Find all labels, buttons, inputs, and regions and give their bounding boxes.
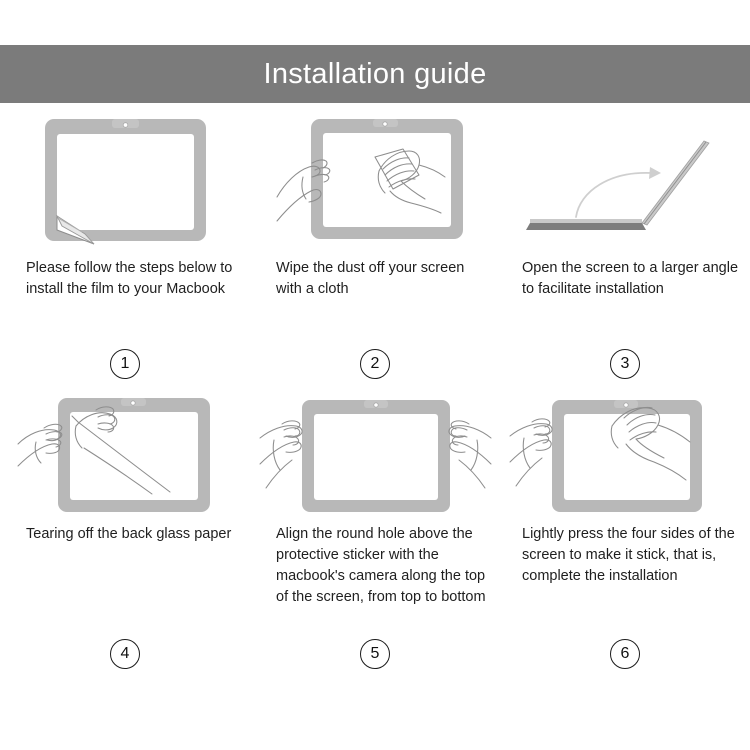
step-card-3: Open the screen to a larger angle to fac… [500, 103, 750, 384]
header-band: Installation guide [0, 45, 750, 103]
step-badge-row-5: 5 [250, 634, 500, 674]
step-illustration-5 [250, 384, 500, 524]
step-number-badge-4: 4 [110, 639, 140, 669]
step-card-2: Wipe the dust off your screen with a clo… [250, 103, 500, 384]
step-caption-1: Please follow the steps below to install… [0, 258, 250, 344]
step-number-badge-3: 3 [610, 349, 640, 379]
step-illustration-4 [0, 384, 250, 524]
installation-guide-page: Installation guide Please follow the ste… [0, 0, 750, 750]
step-card-5: Align the round hole above the protectiv… [250, 384, 500, 674]
step-badge-row-1: 1 [0, 344, 250, 384]
step-illustration-2 [250, 103, 500, 258]
step-illustration-6 [500, 384, 750, 524]
step-illustration-3 [500, 103, 750, 258]
step-caption-4: Tearing off the back glass paper [0, 524, 250, 634]
step-caption-5: Align the round hole above the protectiv… [250, 524, 500, 634]
step-badge-row-2: 2 [250, 344, 500, 384]
step-number-badge-2: 2 [360, 349, 390, 379]
step-number-badge-5: 5 [360, 639, 390, 669]
step-illustration-1 [0, 103, 250, 258]
step-badge-row-3: 3 [500, 344, 750, 384]
step-number-badge-1: 1 [110, 349, 140, 379]
step-card-4: Tearing off the back glass paper 4 [0, 384, 250, 674]
step-badge-row-4: 4 [0, 634, 250, 674]
page-title: Installation guide [263, 60, 486, 89]
step-card-1: Please follow the steps below to install… [0, 103, 250, 384]
step-card-6: Lightly press the four sides of the scre… [500, 384, 750, 674]
step-number-badge-6: 6 [610, 639, 640, 669]
step-badge-row-6: 6 [500, 634, 750, 674]
steps-grid: Please follow the steps below to install… [0, 103, 750, 674]
step-caption-3: Open the screen to a larger angle to fac… [500, 258, 750, 344]
step-caption-2: Wipe the dust off your screen with a clo… [250, 258, 500, 344]
step-caption-6: Lightly press the four sides of the scre… [500, 524, 750, 634]
